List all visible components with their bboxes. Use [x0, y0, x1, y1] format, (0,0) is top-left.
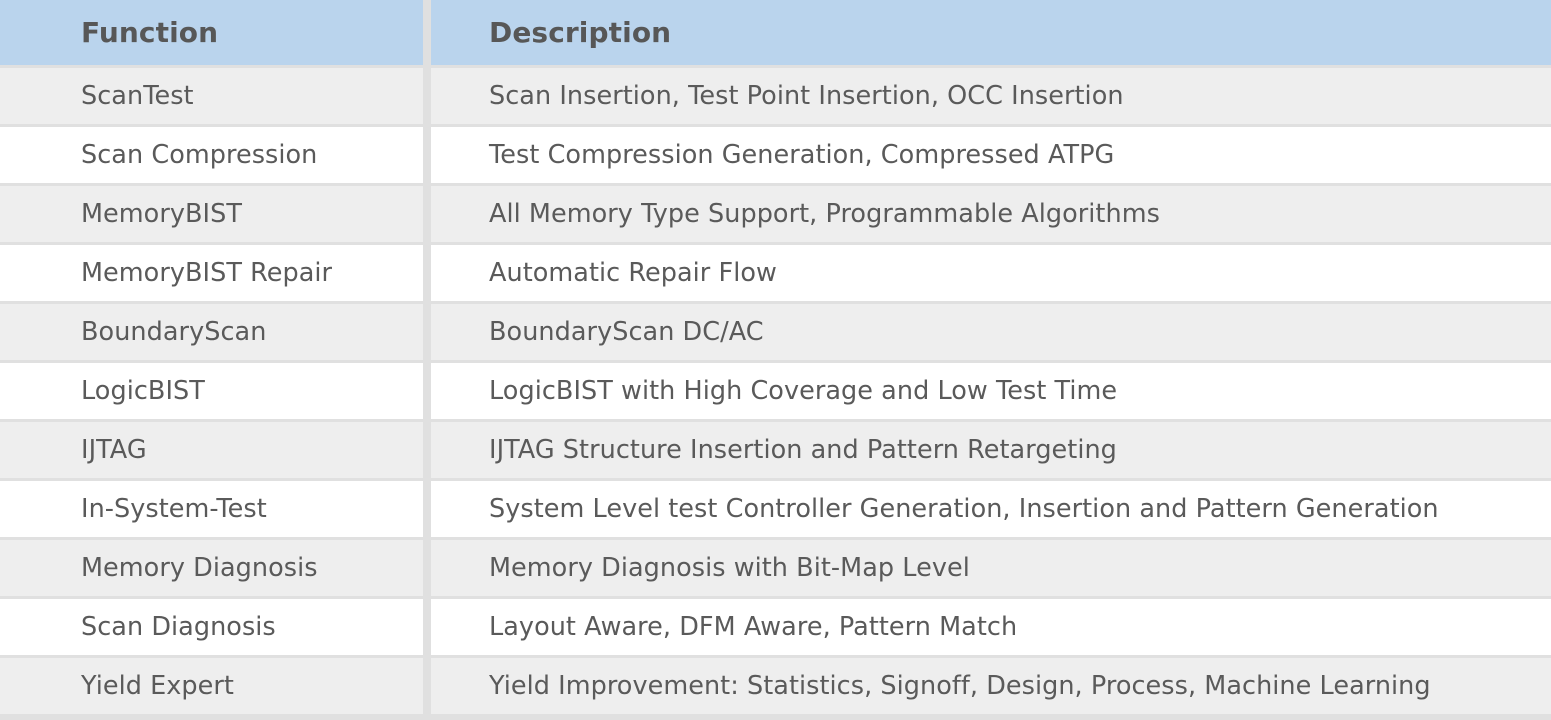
table-row: IJTAG IJTAG Structure Insertion and Patt… [0, 422, 1551, 478]
table-row: MemoryBIST All Memory Type Support, Prog… [0, 186, 1551, 242]
cell-function: Memory Diagnosis [0, 540, 423, 596]
table-header: Function Description [0, 0, 1551, 65]
cell-function: IJTAG [0, 422, 423, 478]
cell-function: LogicBIST [0, 363, 423, 419]
cell-description: Yield Improvement: Statistics, Signoff, … [431, 658, 1551, 714]
table-row: Yield Expert Yield Improvement: Statisti… [0, 658, 1551, 714]
cell-function: BoundaryScan [0, 304, 423, 360]
table-row: ScanTest Scan Insertion, Test Point Inse… [0, 68, 1551, 124]
cell-description: Automatic Repair Flow [431, 245, 1551, 301]
cell-function: In-System-Test [0, 481, 423, 537]
cell-description: IJTAG Structure Insertion and Pattern Re… [431, 422, 1551, 478]
column-header-function: Function [0, 0, 423, 65]
cell-description: System Level test Controller Generation,… [431, 481, 1551, 537]
cell-function: MemoryBIST Repair [0, 245, 423, 301]
cell-description: Layout Aware, DFM Aware, Pattern Match [431, 599, 1551, 655]
cell-function: Yield Expert [0, 658, 423, 714]
cell-function: ScanTest [0, 68, 423, 124]
cell-function: Scan Diagnosis [0, 599, 423, 655]
function-description-table: Function Description ScanTest Scan Inser… [0, 0, 1551, 717]
table-row: LogicBIST LogicBIST with High Coverage a… [0, 363, 1551, 419]
cell-description: BoundaryScan DC/AC [431, 304, 1551, 360]
cell-description: All Memory Type Support, Programmable Al… [431, 186, 1551, 242]
table-body: ScanTest Scan Insertion, Test Point Inse… [0, 68, 1551, 714]
cell-description: Test Compression Generation, Compressed … [431, 127, 1551, 183]
table-header-row: Function Description [0, 0, 1551, 65]
table-row: Memory Diagnosis Memory Diagnosis with B… [0, 540, 1551, 596]
cell-description: Scan Insertion, Test Point Insertion, OC… [431, 68, 1551, 124]
table-row: BoundaryScan BoundaryScan DC/AC [0, 304, 1551, 360]
table-row: In-System-Test System Level test Control… [0, 481, 1551, 537]
cell-description: Memory Diagnosis with Bit-Map Level [431, 540, 1551, 596]
function-description-table-container: Function Description ScanTest Scan Inser… [0, 0, 1551, 720]
table-row: Scan Compression Test Compression Genera… [0, 127, 1551, 183]
cell-description: LogicBIST with High Coverage and Low Tes… [431, 363, 1551, 419]
table-row: Scan Diagnosis Layout Aware, DFM Aware, … [0, 599, 1551, 655]
column-header-description: Description [431, 0, 1551, 65]
table-row: MemoryBIST Repair Automatic Repair Flow [0, 245, 1551, 301]
cell-function: MemoryBIST [0, 186, 423, 242]
cell-function: Scan Compression [0, 127, 423, 183]
